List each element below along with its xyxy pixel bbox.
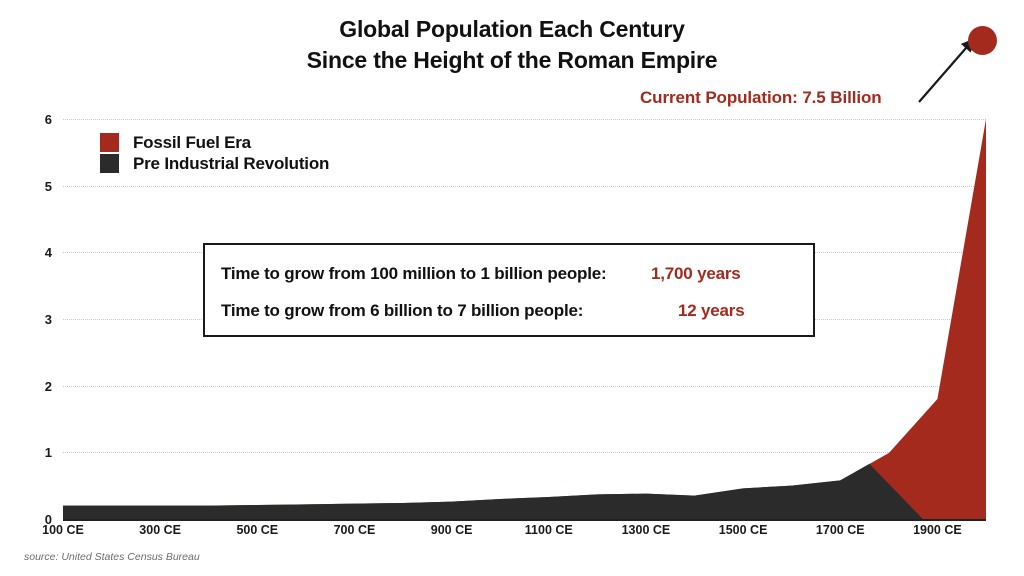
y-tick-label: 5 <box>22 180 52 193</box>
y-tick-label: 4 <box>22 246 52 259</box>
current-population-annotation: Current Population: 7.5 Billion <box>640 88 882 108</box>
fact-box: Time to grow from 100 million to 1 billi… <box>203 243 815 337</box>
title-line-2: Since the Height of the Roman Empire <box>0 45 1024 76</box>
legend-item-pre-industrial-revolution: Pre Industrial Revolution <box>100 153 329 174</box>
legend-label-fossil-fuel-era: Fossil Fuel Era <box>133 133 251 153</box>
title-line-1: Global Population Each Century <box>0 14 1024 45</box>
fact-row: Time to grow from 6 billion to 7 billion… <box>221 301 801 321</box>
y-tick-label: 2 <box>22 380 52 393</box>
legend-label-pre-industrial-revolution: Pre Industrial Revolution <box>133 154 329 174</box>
pre-industrial-revolution-area <box>63 464 923 519</box>
y-tick-label: 1 <box>22 446 52 459</box>
x-tick-label: 1900 CE <box>877 524 997 537</box>
fact-value: 1,700 years <box>651 264 741 284</box>
source-note: source: United States Census Bureau <box>24 551 200 563</box>
legend-swatch-pre-industrial-revolution <box>100 154 119 173</box>
fact-value: 12 years <box>678 301 744 321</box>
fact-label: Time to grow from 100 million to 1 billi… <box>221 264 606 283</box>
x-axis-line <box>63 519 986 521</box>
legend-item-fossil-fuel-era: Fossil Fuel Era <box>100 132 329 153</box>
fact-row: Time to grow from 100 million to 1 billi… <box>221 264 801 284</box>
chart-legend: Fossil Fuel Era Pre Industrial Revolutio… <box>100 132 329 174</box>
current-population-dot <box>968 26 997 55</box>
y-tick-label: 3 <box>22 313 52 326</box>
legend-swatch-fossil-fuel-era <box>100 133 119 152</box>
fact-label: Time to grow from 6 billion to 7 billion… <box>221 301 583 320</box>
page-title: Global Population Each Century Since the… <box>0 14 1024 75</box>
y-tick-label: 6 <box>22 113 52 126</box>
